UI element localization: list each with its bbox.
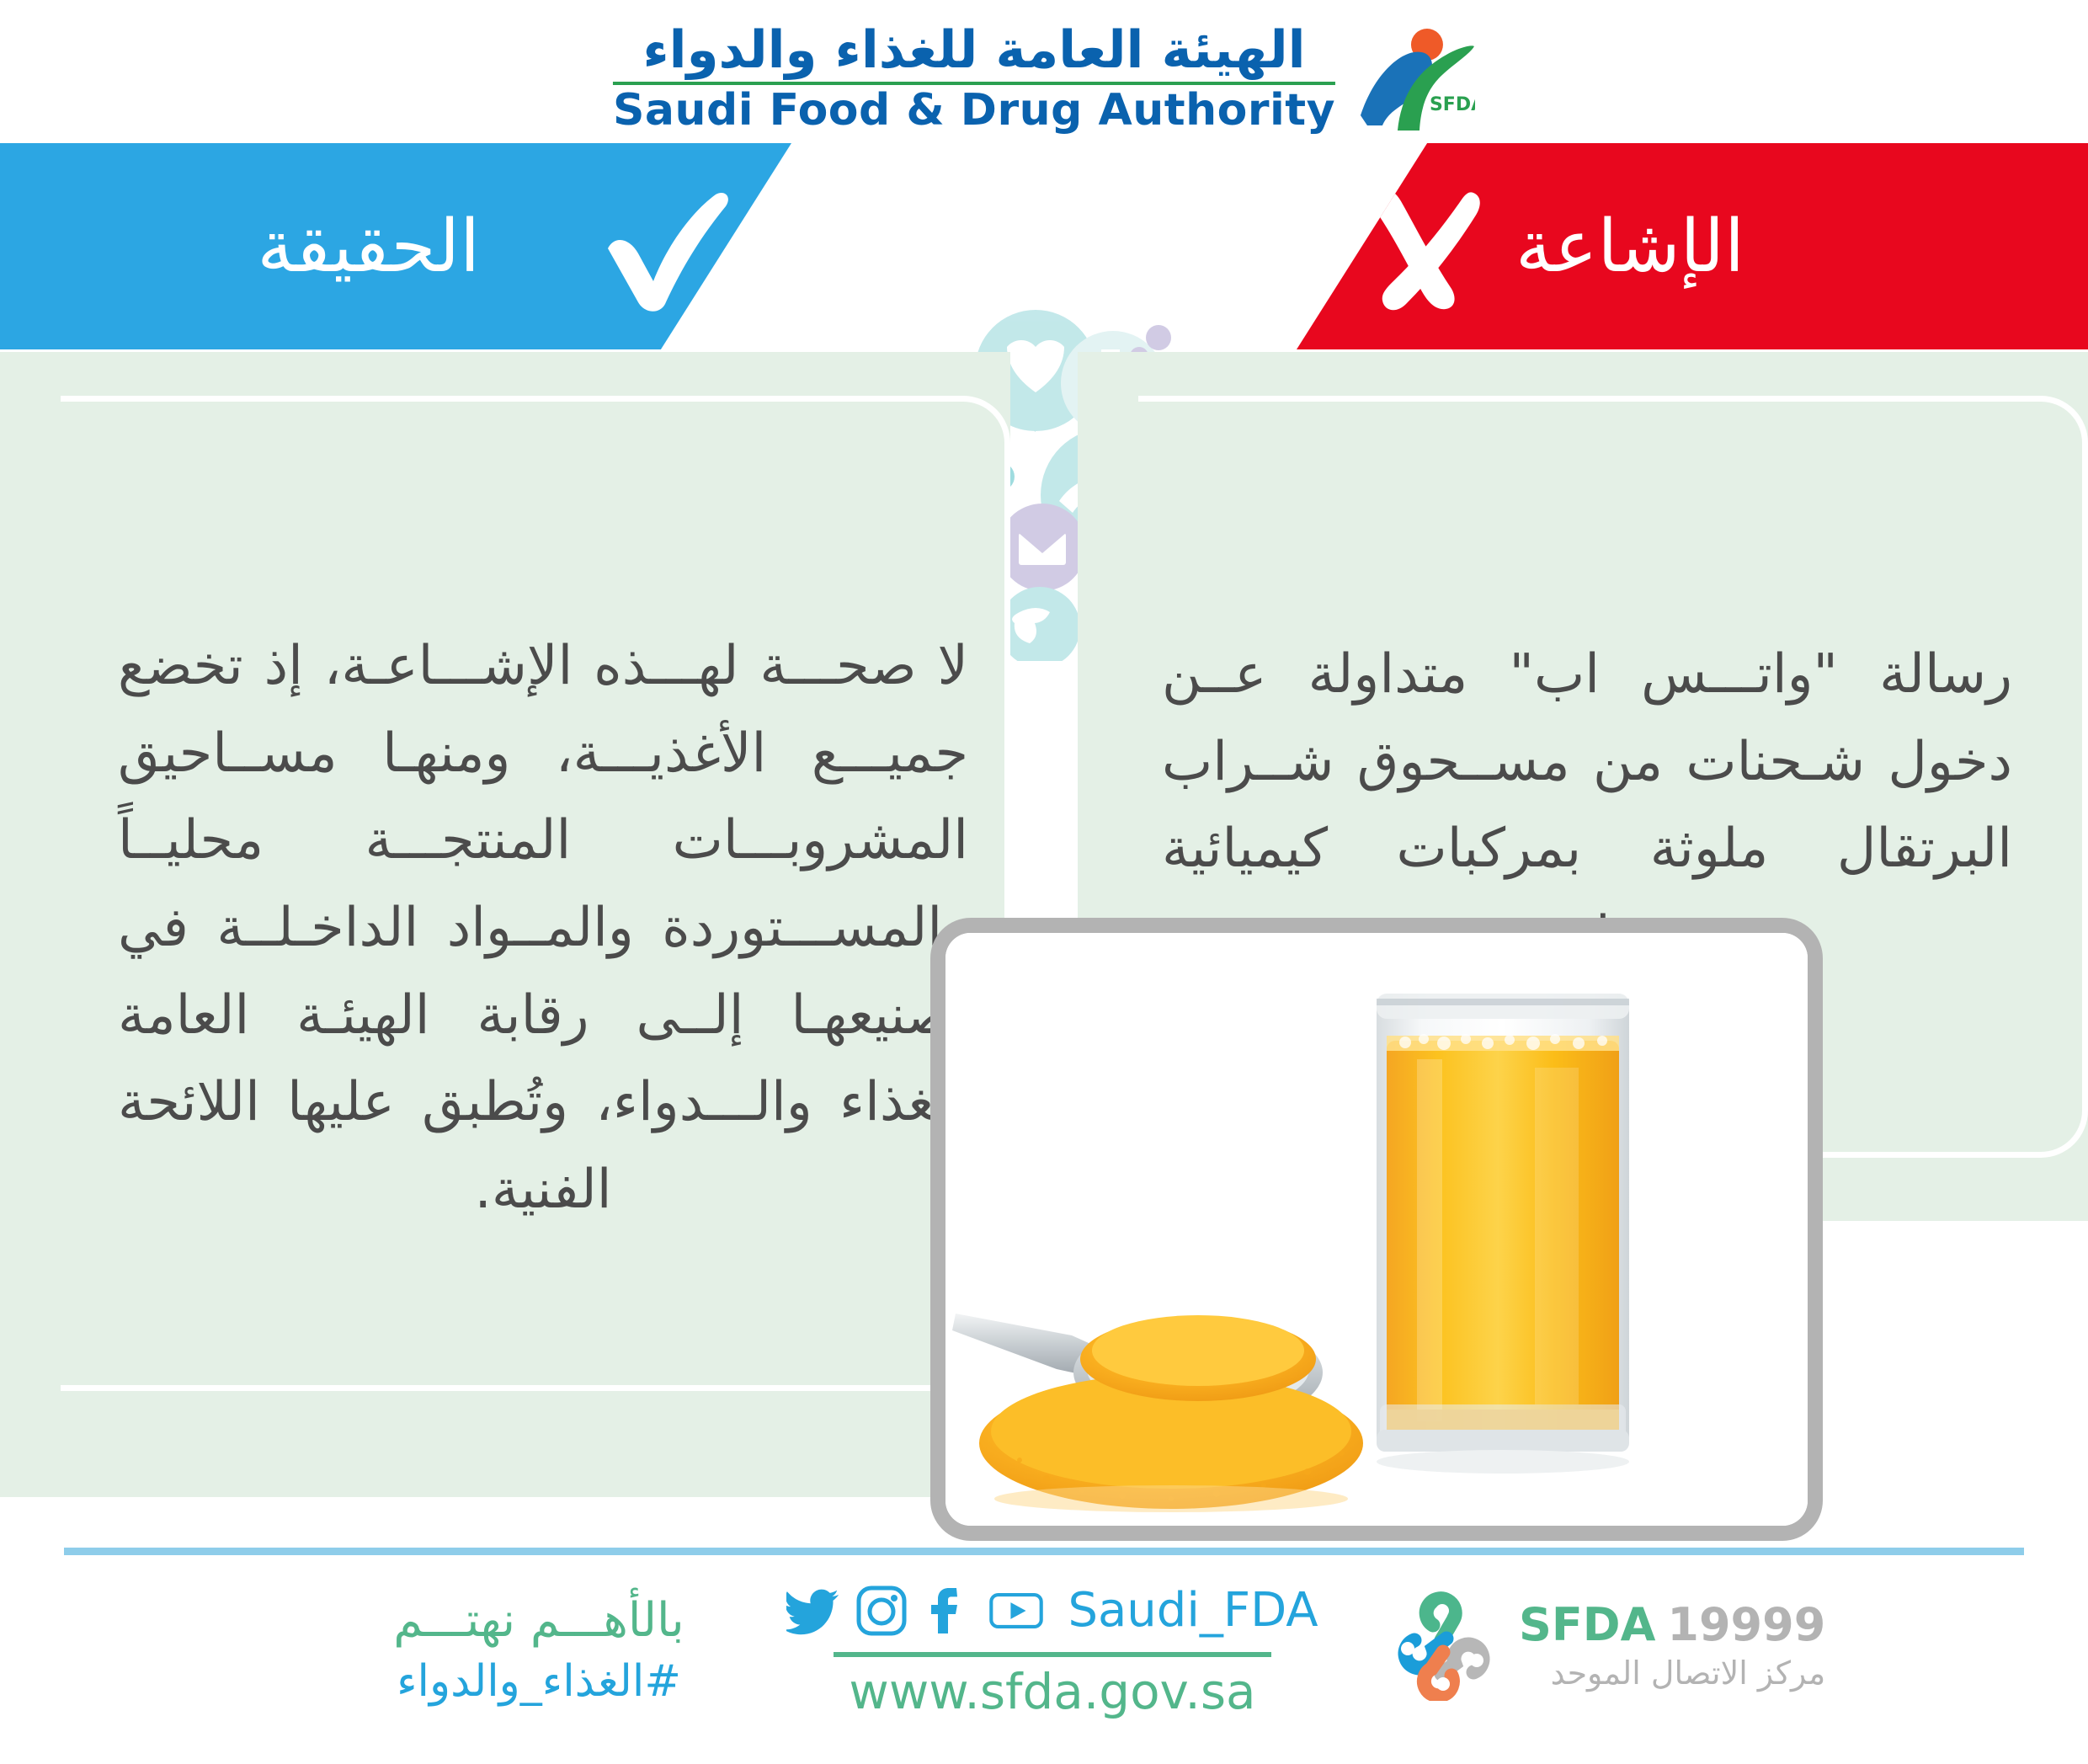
- instagram-icon[interactable]: [854, 1583, 909, 1639]
- logo-wordmark: الهيئة العامة للغذاء والدواء Saudi Food …: [613, 24, 1335, 134]
- youtube-icon[interactable]: [988, 1583, 1044, 1639]
- footer-divider-rule: [64, 1548, 2024, 1555]
- truth-banner-label: الحقيقة: [257, 211, 480, 283]
- rumor-banner: الإشاعة: [1297, 143, 2088, 349]
- sfda-logo: الهيئة العامة للغذاء والدواء Saudi Food …: [613, 24, 1475, 134]
- call-center-number: 19999: [1667, 1598, 1825, 1651]
- orange-juice-and-powder-photo: [945, 933, 1808, 1526]
- sfda-emblem-icon: SFDA: [1357, 26, 1475, 131]
- facebook-icon[interactable]: [921, 1583, 977, 1639]
- truth-banner: الحقيقة: [0, 143, 791, 349]
- social-divider-rule: [834, 1652, 1271, 1657]
- twitter-icon[interactable]: [786, 1583, 842, 1639]
- rumor-banner-label: الإشاعة: [1515, 211, 1744, 283]
- org-name-english: Saudi Food & Drug Authority: [613, 88, 1335, 134]
- campaign-slogan: بالأهـــم نهتـــم #الغذاء_والدواء: [362, 1591, 716, 1711]
- call-center-label: مركز الاتصال الموحد: [1519, 1655, 1825, 1693]
- page-footer: بالأهـــم نهتـــم #الغذاء_والدواء Saudi_…: [0, 1566, 2088, 1764]
- product-photo-frame: [930, 918, 1823, 1541]
- org-name-arabic: الهيئة العامة للغذاء والدواء: [642, 24, 1305, 77]
- slogan-hashtag[interactable]: #الغذاء_والدواء: [362, 1654, 716, 1711]
- orange-juice-glass-shape: [1377, 994, 1629, 1474]
- page-header: الهيئة العامة للغذاء والدواء Saudi Food …: [0, 0, 2088, 143]
- svg-text:SFDA: SFDA: [1430, 94, 1475, 115]
- truth-text: لا صحـــة لهـــذه الإشـــاعـة، إذ تخضع ج…: [118, 623, 968, 1234]
- call-center-block: SFDA19999 مركز الاتصال الموحد: [1389, 1591, 1825, 1701]
- banner-band: ftin P◻t G+☺V ▶☏L ⋮⋮✉ⓦ الحقيقة الإشاعة: [0, 143, 2088, 349]
- call-center-text: SFDA19999 مركز الاتصال الموحد: [1519, 1600, 1825, 1693]
- social-handle[interactable]: Saudi_FDA: [1068, 1587, 1318, 1634]
- call-center-headline: SFDA19999: [1519, 1600, 1825, 1649]
- slogan-line-1: بالأهـــم نهتـــم: [362, 1591, 716, 1650]
- website-url[interactable]: www.sfda.gov.sa: [834, 1665, 1271, 1719]
- call-center-brand: SFDA: [1519, 1598, 1655, 1651]
- social-icons-row: Saudi_FDA: [834, 1583, 1271, 1639]
- social-block: Saudi_FDA www.sfda.gov.sa: [834, 1583, 1271, 1719]
- call-center-logo-icon: [1389, 1591, 1499, 1701]
